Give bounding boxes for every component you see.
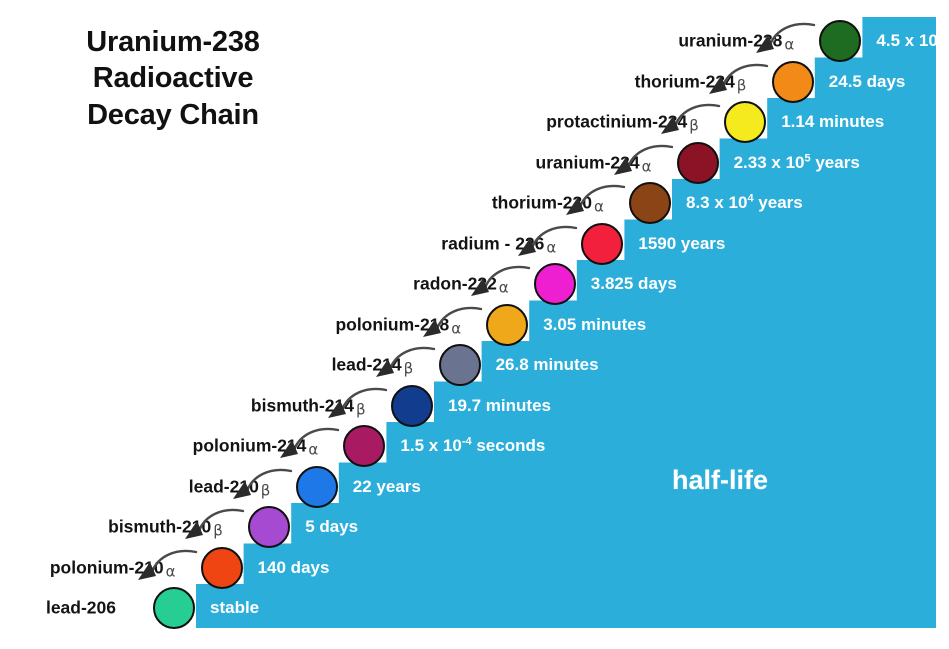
nuclide-circle	[581, 223, 623, 265]
nuclide-circle	[248, 506, 290, 548]
decay-symbol: α	[784, 38, 794, 53]
halflife-mantissa: 8.3 x 10	[686, 193, 747, 212]
decay-chain-diagram: Uranium-238 Radioactive Decay Chain half…	[0, 0, 949, 649]
halflife-value: 26.8 minutes	[496, 355, 599, 375]
halflife-value: 3.05 minutes	[543, 315, 646, 335]
decay-symbol: β	[261, 483, 271, 498]
nuclide-circle	[772, 61, 814, 103]
halflife-value: 8.3 x 104 years	[686, 193, 803, 213]
decay-symbol: β	[737, 78, 747, 93]
halflife-value: 140 days	[258, 558, 330, 578]
decay-symbol: β	[213, 524, 223, 539]
nuclide-circle	[439, 344, 481, 386]
nuclide-circle	[153, 587, 195, 629]
decay-symbol: α	[499, 281, 509, 296]
halflife-value: 4.5 x 109 years	[876, 31, 949, 51]
halflife-value: stable	[210, 598, 259, 618]
nuclide-circle	[819, 20, 861, 62]
halflife-unit: years	[811, 153, 860, 172]
nuclide-circle	[201, 547, 243, 589]
nuclide-circle	[391, 385, 433, 427]
halflife-mantissa: 4.5 x 10	[876, 31, 937, 50]
halflife-value: 22 years	[353, 477, 421, 497]
decay-symbol: β	[356, 402, 366, 417]
decay-symbol: β	[689, 119, 699, 134]
halflife-value: 24.5 days	[829, 72, 906, 92]
decay-symbol: β	[404, 362, 414, 377]
nuclide-circle	[486, 304, 528, 346]
halflife-value: 2.33 x 105 years	[734, 153, 860, 173]
decay-row: lead-206stable	[0, 584, 949, 632]
nuclide-circle	[343, 425, 385, 467]
nuclide-circle	[629, 182, 671, 224]
halflife-value: 1.5 x 10-4 seconds	[400, 436, 545, 456]
halflife-mantissa: 2.33 x 10	[734, 153, 805, 172]
decay-symbol: α	[308, 443, 318, 458]
halflife-value: 3.825 days	[591, 274, 677, 294]
decay-symbol: α	[166, 564, 176, 579]
nuclide-circle	[296, 466, 338, 508]
nuclide-circle	[534, 263, 576, 305]
decay-symbol: α	[642, 159, 652, 174]
halflife-value: 5 days	[305, 517, 358, 537]
isotope-label: lead-206	[46, 598, 116, 619]
halflife-value: 1.14 minutes	[781, 112, 884, 132]
nuclide-circle	[724, 101, 766, 143]
nuclide-circle	[677, 142, 719, 184]
decay-symbol: α	[546, 240, 556, 255]
decay-symbol: α	[594, 200, 604, 215]
halflife-value: 1590 years	[638, 234, 725, 254]
halflife-unit: years	[754, 193, 803, 212]
halflife-exponent: -4	[462, 435, 472, 447]
halflife-unit: years	[944, 31, 949, 50]
halflife-unit: seconds	[472, 436, 546, 455]
halflife-mantissa: 1.5 x 10	[400, 436, 461, 455]
halflife-value: 19.7 minutes	[448, 396, 551, 416]
decay-symbol: α	[451, 321, 461, 336]
